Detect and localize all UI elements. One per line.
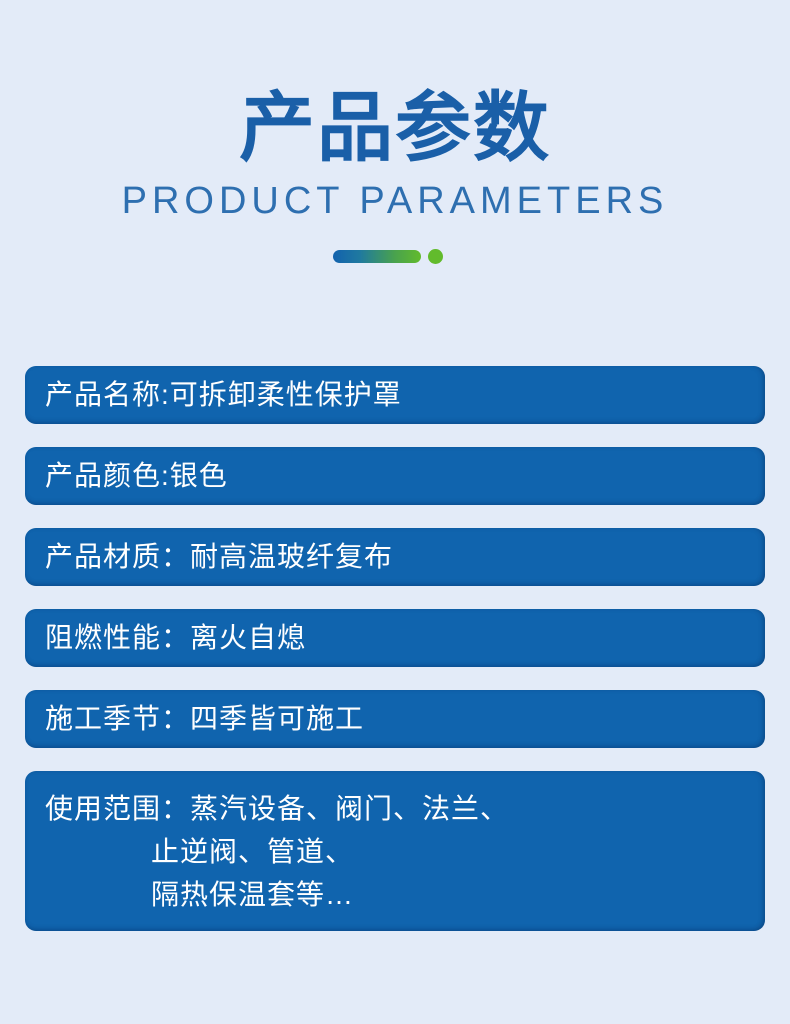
spec-row-text: 产品材质：耐高温玻纤复布 (25, 541, 393, 573)
spec-row-text: 产品名称:可拆卸柔性保护罩 (25, 379, 402, 411)
spec-row-text: 施工季节：四季皆可施工 (25, 703, 364, 735)
divider-dot-icon (428, 249, 443, 264)
gradient-divider (333, 246, 458, 266)
spec-list: 产品名称:可拆卸柔性保护罩 产品颜色:银色 产品材质：耐高温玻纤复布 阻燃性能：… (25, 366, 765, 954)
spec-row-flame-retardancy: 阻燃性能：离火自熄 (25, 609, 765, 667)
spec-row-line: 使用范围：蒸汽设备、阀门、法兰、 (45, 787, 509, 830)
spec-row-text: 阻燃性能：离火自熄 (25, 622, 306, 654)
product-parameters-page: 产品参数 PRODUCT PARAMETERS 产品名称:可拆卸柔性保护罩 产品… (0, 0, 790, 1024)
page-title-english: PRODUCT PARAMETERS (0, 178, 790, 224)
spec-row-line: 隔热保温套等… (45, 873, 509, 916)
spec-row-product-name: 产品名称:可拆卸柔性保护罩 (25, 366, 765, 424)
page-title-chinese: 产品参数 (0, 86, 790, 172)
spec-row-line: 止逆阀、管道、 (45, 830, 509, 873)
spec-row-construction-season: 施工季节：四季皆可施工 (25, 690, 765, 748)
spec-row-product-material: 产品材质：耐高温玻纤复布 (25, 528, 765, 586)
spec-row-text-block: 使用范围：蒸汽设备、阀门、法兰、 止逆阀、管道、 隔热保温套等… (25, 787, 509, 916)
spec-row-application-scope: 使用范围：蒸汽设备、阀门、法兰、 止逆阀、管道、 隔热保温套等… (25, 771, 765, 931)
divider-bar-icon (333, 250, 421, 263)
page-header: 产品参数 PRODUCT PARAMETERS (0, 0, 790, 266)
spec-row-text: 产品颜色:银色 (25, 460, 228, 492)
spec-row-product-color: 产品颜色:银色 (25, 447, 765, 505)
